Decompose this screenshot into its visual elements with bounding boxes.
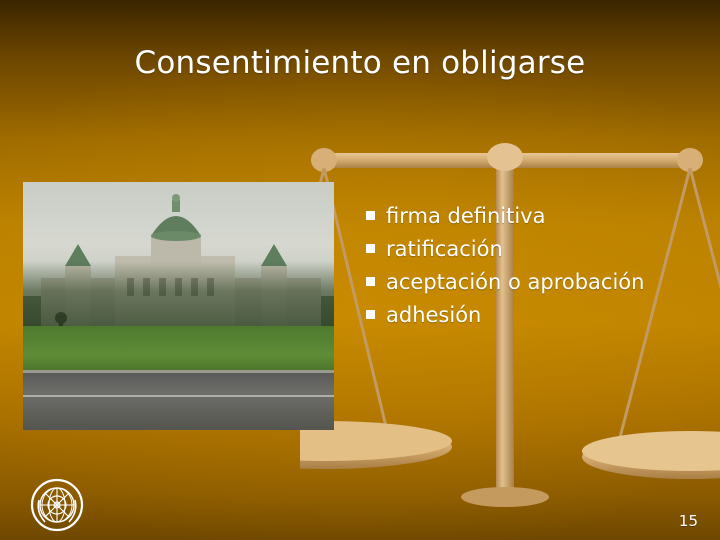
square-bullet-icon xyxy=(366,244,375,253)
united-nations-emblem xyxy=(30,478,84,532)
legislature-building-photo xyxy=(23,182,334,430)
un-logo-icon xyxy=(30,478,84,532)
list-item: firma definitiva xyxy=(366,200,706,233)
list-item-label: firma definitiva xyxy=(386,200,545,233)
square-bullet-icon xyxy=(366,310,375,319)
square-bullet-icon xyxy=(366,277,375,286)
list-item: adhesión xyxy=(366,299,706,332)
photo-trees xyxy=(23,261,334,335)
list-item-label: ratificación xyxy=(386,233,503,266)
balance-scale-icon xyxy=(300,135,720,535)
photo-road xyxy=(23,373,334,430)
list-item: ratificación xyxy=(366,233,706,266)
list-item: aceptación o aprobación xyxy=(366,266,706,299)
list-item-label: aceptación o aprobación xyxy=(386,266,644,299)
photo-lawn xyxy=(23,326,334,376)
slide: Consentimiento en obligarse xyxy=(0,0,720,540)
page-title: Consentimiento en obligarse xyxy=(0,45,720,81)
balance-scale-illustration xyxy=(300,135,720,535)
page-number: 15 xyxy=(679,512,698,530)
square-bullet-icon xyxy=(366,211,375,220)
list-item-label: adhesión xyxy=(386,299,481,332)
bullet-list: firma definitiva ratificación aceptación… xyxy=(366,200,706,332)
photo-road-line xyxy=(23,395,334,397)
